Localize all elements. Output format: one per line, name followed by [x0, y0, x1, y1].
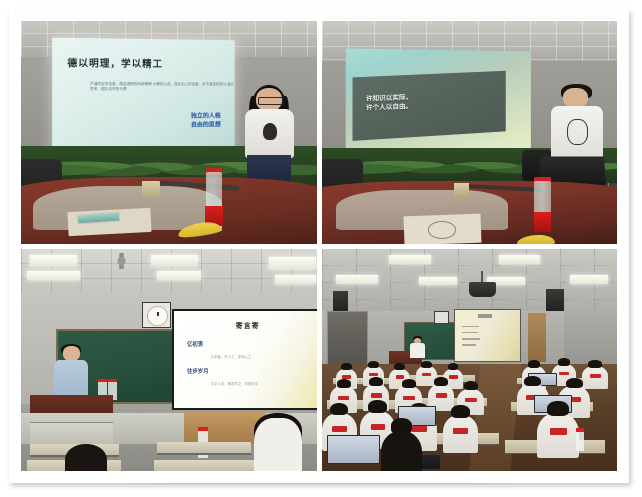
slide-body-1: 凡学者，作人之，学术心之 — [211, 354, 252, 359]
glasses-icon — [258, 97, 283, 104]
head — [63, 346, 80, 361]
wall-clock-icon — [434, 311, 449, 324]
clock-hand — [157, 312, 158, 317]
shirt-badge — [412, 426, 427, 432]
shirt-badge — [559, 372, 569, 376]
audience-member — [254, 418, 301, 471]
window — [327, 311, 367, 366]
photo-panel-top-right[interactable]: 许知识以实际， 许个人以自由。 — [322, 21, 618, 244]
shirt-badge — [371, 424, 386, 430]
shirt-badge — [453, 428, 468, 434]
shirt-badge — [436, 393, 447, 397]
power-adapter — [142, 181, 160, 197]
photo-panel-bottom-left[interactable]: 寄言寄 亿初衷 凡学者，作人之，学术心之 往步岁月 平平人法，神发学之，学前知平 — [21, 249, 317, 472]
shirt-badge — [590, 374, 601, 378]
slide-slogan-line1: 独立的人格 — [190, 111, 220, 120]
ceiling-light — [27, 271, 80, 280]
ceiling-light — [157, 271, 201, 280]
door — [528, 313, 546, 362]
ceiling-light — [389, 255, 430, 264]
shirt-badge — [422, 373, 431, 376]
slide-line — [462, 332, 478, 333]
slide-heading — [478, 314, 492, 318]
photo-collage: 德以明理，学以精工 严谨的治学态度，精益求精的科研精神 小静的心态，现实向上的态… — [0, 0, 642, 497]
paper-doodle — [428, 221, 457, 239]
bottle-label — [534, 212, 552, 232]
ceiling-light — [570, 275, 608, 284]
slide-line — [462, 338, 480, 339]
slide-line — [462, 344, 476, 345]
laptop — [327, 435, 379, 464]
shirt-badge — [332, 426, 347, 432]
bottle-cap — [576, 428, 585, 432]
collage-card: 德以明理，学以精工 严谨的治学态度，精益求精的科研精神 小静的心态，现实向上的态… — [9, 9, 629, 483]
ceiling-light — [151, 255, 198, 266]
slide-heading-1: 亿初衷 — [187, 340, 203, 348]
slide-heading-2: 往步岁月 — [187, 367, 209, 375]
desk — [154, 460, 254, 471]
slide-slogan: 独立的人格 自由的思想 — [190, 111, 220, 129]
wall-speaker — [546, 289, 564, 311]
slide-line — [462, 326, 479, 327]
shirt-badge — [449, 375, 458, 378]
podium-base — [30, 422, 113, 445]
projector-screen: 德以明理，学以精工 严谨的治学态度，精益求精的科研精神 小静的心态，现实向上的态… — [52, 37, 235, 155]
ceiling-light — [419, 277, 457, 285]
student — [582, 366, 609, 388]
shirt-badge — [371, 393, 382, 397]
slide-text: 许知识以实际， 许个人以自由。 — [366, 94, 412, 114]
water-bottle — [576, 431, 585, 451]
clock-face — [147, 306, 168, 326]
wall-clock-icon — [142, 302, 171, 328]
shirt-badge — [465, 398, 476, 402]
power-adapter — [454, 183, 469, 196]
slide-body-2: 平平人法，神发学之，学前知平 — [211, 381, 258, 386]
slide-title: 德以明理，学以精工 — [67, 55, 163, 70]
shirt-print — [567, 119, 588, 145]
projector-screen: 寄言寄 亿初衷 凡学者，作人之，学术心之 往步岁月 平平人法，神发学之，学前知平 — [172, 309, 317, 411]
student — [537, 413, 578, 458]
audience-member — [65, 444, 106, 471]
ceiling-light — [499, 255, 540, 264]
ceiling-light — [336, 275, 377, 284]
student-long-hair — [381, 431, 422, 471]
head — [563, 88, 588, 108]
wall-speaker — [333, 291, 348, 311]
slide-body: 严谨的治学态度，精益求精的科研精神 小静的心态，现实向上的态度，永不满足的探与 … — [90, 81, 235, 92]
torso — [410, 343, 425, 357]
desk — [157, 442, 252, 455]
projector-screen — [454, 309, 521, 362]
photo-panel-top-left[interactable]: 德以明理，学以精工 严谨的治学态度，精益求精的科研精神 小静的心态，现实向上的态… — [21, 21, 317, 244]
projector — [469, 282, 496, 298]
shirt-badge — [550, 428, 567, 435]
ceiling-fan-icon — [101, 253, 142, 269]
slide-title: 寄言寄 — [174, 321, 317, 331]
student — [443, 415, 478, 453]
shirt-badge — [403, 396, 414, 400]
ceiling-light — [269, 257, 316, 268]
photo-panel-bottom-right[interactable] — [322, 249, 618, 472]
ceiling-light — [275, 275, 316, 284]
collage-grid: 德以明理，学以精工 严谨的治学态度，精益求精的科研精神 小静的心态，现实向上的态… — [21, 21, 617, 471]
shirt-badge — [396, 375, 405, 378]
shirt-print — [263, 123, 277, 140]
ceiling-light — [30, 255, 77, 266]
slide-slogan-line2: 自由的思想 — [190, 120, 220, 129]
teacher — [410, 338, 425, 358]
shirt-badge — [338, 396, 349, 400]
shirt-badge — [369, 373, 378, 376]
